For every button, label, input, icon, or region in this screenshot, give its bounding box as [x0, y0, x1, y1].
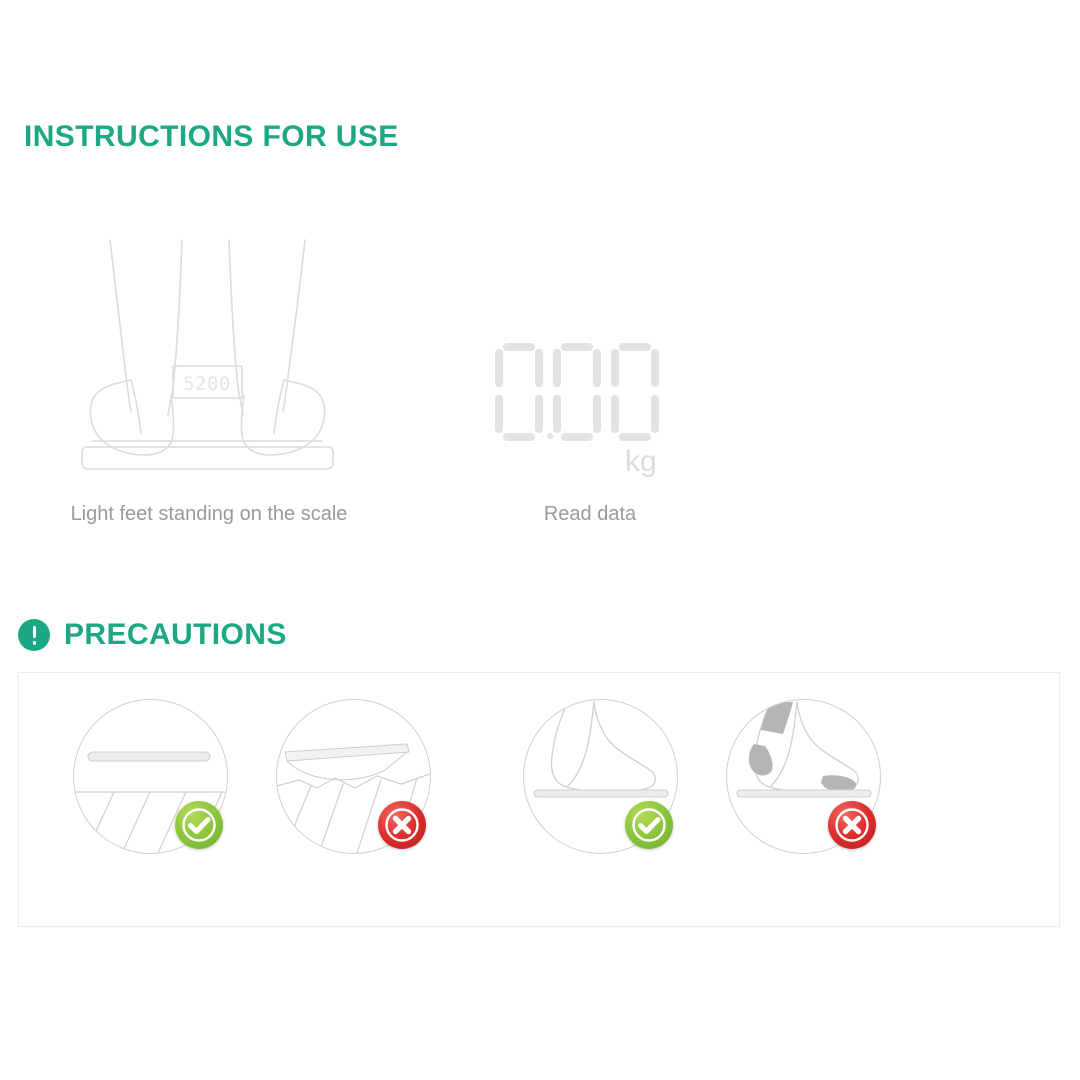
check-circle-icon: [625, 801, 673, 849]
check-circle-icon: [175, 801, 223, 849]
lcd-decimal-point: [547, 433, 553, 439]
cross-circle-icon: [828, 801, 876, 849]
scale-display-digits: 5200: [183, 373, 231, 395]
lcd-digit-1: [551, 343, 603, 441]
lcd-digit-2: [609, 343, 661, 441]
precautions-items: [19, 673, 1059, 926]
scale-display-value: 5200: [183, 373, 231, 395]
instruction-step-feet: 5200 Light feet standing on the scale: [44, 235, 374, 526]
cross-circle-icon: [378, 801, 426, 849]
feet-on-scale-icon: 5200: [79, 235, 339, 485]
precaution-item: [266, 695, 466, 880]
lcd-display-icon: kg: [485, 305, 695, 485]
precaution-item: [63, 695, 263, 880]
precaution-item: [716, 695, 916, 880]
lcd-digits: [493, 343, 667, 441]
precaution-item: [513, 695, 713, 880]
page-title: INSTRUCTIONS FOR USE: [24, 120, 399, 154]
instruction-steps: 5200 Light feet standing on the scale: [0, 235, 1080, 535]
lcd-display-figure: kg: [420, 235, 760, 485]
feet-on-scale-figure: 5200: [44, 235, 374, 485]
precautions-title: PRECAUTIONS: [64, 618, 287, 652]
instruction-step-caption: Read data: [420, 503, 760, 526]
instruction-step-read: kg Read data: [420, 235, 760, 526]
precautions-heading: PRECAUTIONS: [18, 618, 287, 652]
lcd-unit-label: kg: [625, 445, 657, 479]
instruction-step-caption: Light feet standing on the scale: [44, 503, 374, 526]
lcd-digit-0: [493, 343, 545, 441]
precautions-panel: [18, 672, 1060, 927]
exclamation-circle-icon: [18, 619, 50, 651]
